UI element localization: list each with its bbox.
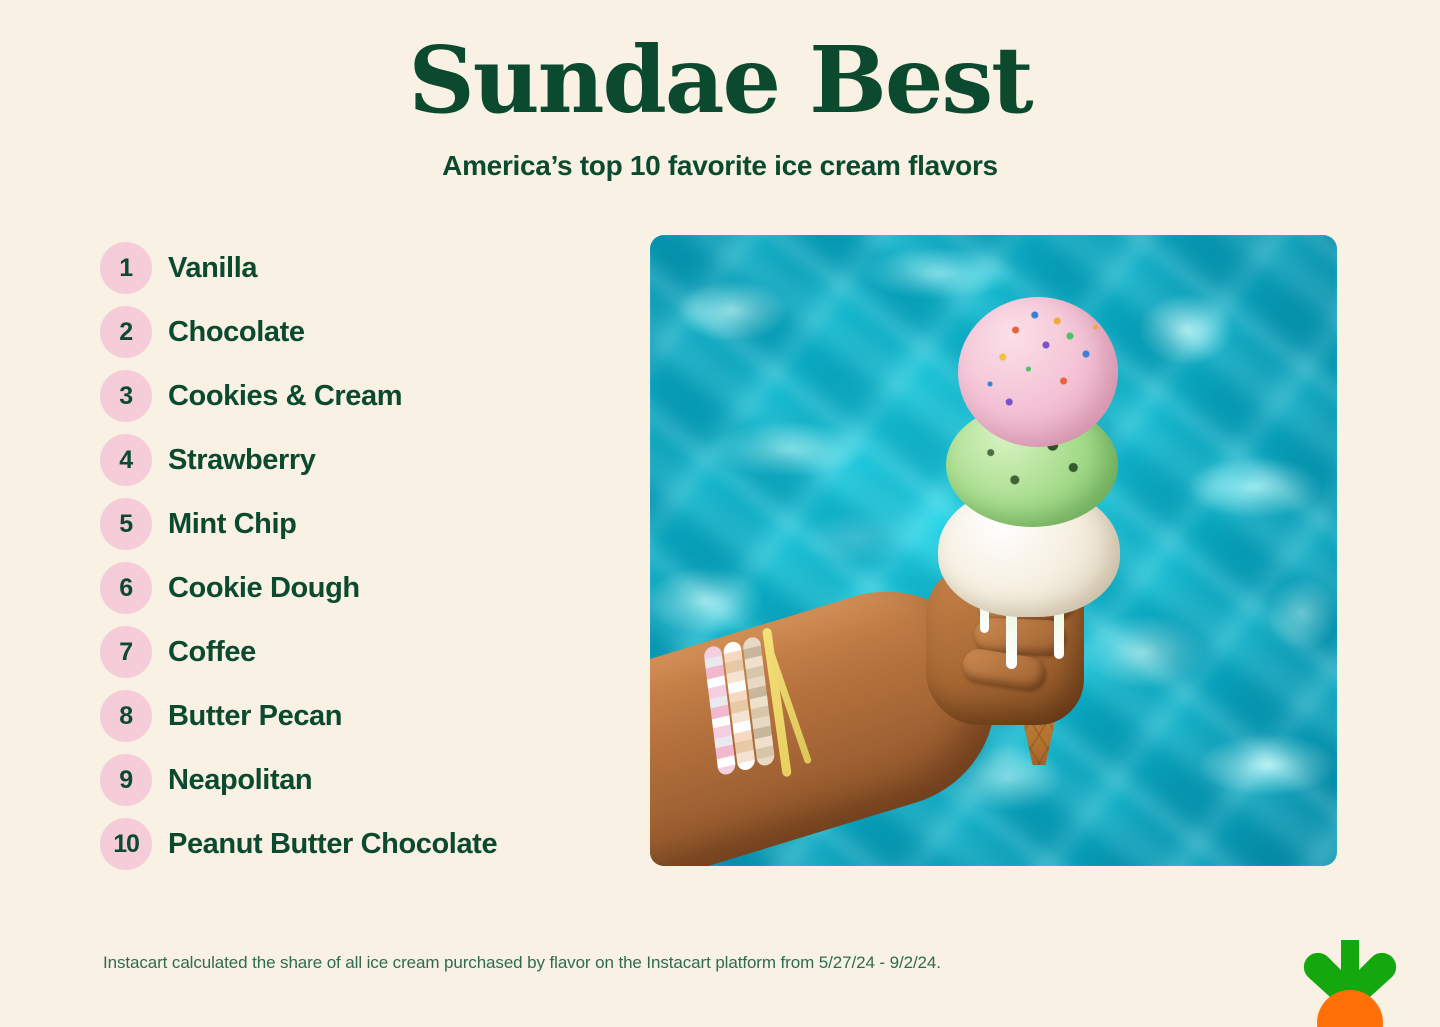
rank-badge: 7 bbox=[100, 626, 152, 678]
list-item: 2 Chocolate bbox=[100, 300, 630, 364]
flavor-label: Strawberry bbox=[168, 444, 316, 477]
list-item: 7 Coffee bbox=[100, 620, 630, 684]
ice-cream-photo bbox=[650, 235, 1337, 866]
list-item: 6 Cookie Dough bbox=[100, 556, 630, 620]
rank-badge: 9 bbox=[100, 754, 152, 806]
instacart-carrot-logo bbox=[1296, 938, 1404, 1027]
page-title: Sundae Best bbox=[0, 34, 1440, 126]
strawberry-scoop bbox=[958, 297, 1118, 447]
header: Sundae Best America’s top 10 favorite ic… bbox=[0, 0, 1440, 182]
list-item: 8 Butter Pecan bbox=[100, 684, 630, 748]
flavor-label: Cookie Dough bbox=[168, 572, 360, 605]
flavor-label: Coffee bbox=[168, 636, 256, 669]
footer-note: Instacart calculated the share of all ic… bbox=[103, 953, 941, 973]
list-item: 3 Cookies & Cream bbox=[100, 364, 630, 428]
flavor-label: Peanut Butter Chocolate bbox=[168, 828, 497, 861]
rank-badge: 1 bbox=[100, 242, 152, 294]
flavor-label: Mint Chip bbox=[168, 508, 296, 541]
flavor-label: Butter Pecan bbox=[168, 700, 342, 733]
flavor-ranking-list: 1 Vanilla 2 Chocolate 3 Cookies & Cream … bbox=[100, 236, 630, 876]
beaded-bracelets bbox=[697, 631, 810, 779]
rank-badge: 5 bbox=[100, 498, 152, 550]
flavor-label: Vanilla bbox=[168, 252, 257, 285]
rank-badge: 8 bbox=[100, 690, 152, 742]
rank-badge: 3 bbox=[100, 370, 152, 422]
page-subtitle: America’s top 10 favorite ice cream flav… bbox=[0, 150, 1440, 182]
rank-badge: 10 bbox=[100, 818, 152, 870]
rank-badge: 2 bbox=[100, 306, 152, 358]
flavor-label: Cookies & Cream bbox=[168, 380, 402, 413]
flavor-label: Neapolitan bbox=[168, 764, 312, 797]
sprinkles bbox=[958, 297, 1118, 447]
infographic-poster: Sundae Best America’s top 10 favorite ic… bbox=[0, 0, 1440, 1027]
rank-badge: 4 bbox=[100, 434, 152, 486]
rank-badge: 6 bbox=[100, 562, 152, 614]
list-item: 1 Vanilla bbox=[100, 236, 630, 300]
list-item: 9 Neapolitan bbox=[100, 748, 630, 812]
list-item: 10 Peanut Butter Chocolate bbox=[100, 812, 630, 876]
list-item: 5 Mint Chip bbox=[100, 492, 630, 556]
flavor-label: Chocolate bbox=[168, 316, 305, 349]
list-item: 4 Strawberry bbox=[100, 428, 630, 492]
